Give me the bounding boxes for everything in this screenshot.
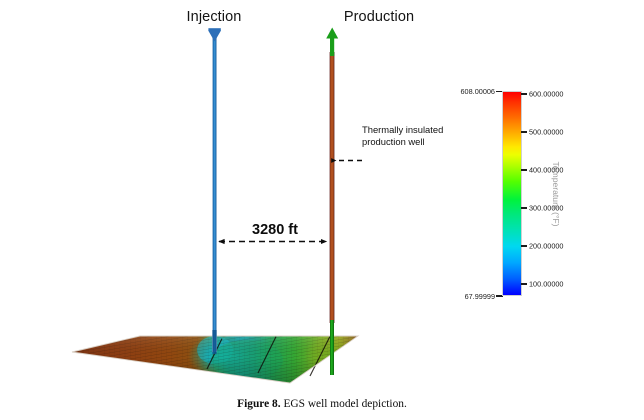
colorbar-gradient-strip (502, 91, 522, 296)
injection-well-openhole (212, 330, 216, 354)
well-spacing-label: 3280 ft (252, 222, 298, 238)
up-arrow-icon (326, 28, 338, 39)
figure-caption: Figure 8. EGS well model depiction. (0, 398, 644, 410)
down-arrow-icon (208, 31, 221, 42)
colorbar-tick (521, 283, 527, 284)
colorbar-title: Temperature (°F) (551, 161, 561, 226)
production-well-casing (329, 52, 335, 323)
production-well (326, 28, 338, 376)
colorbar-tick (521, 131, 527, 132)
injection-well-label: Injection (187, 9, 242, 25)
colorbar-max-label: 608.00006 (452, 87, 495, 96)
injection-well-casing (212, 36, 217, 352)
injection-well (208, 28, 221, 354)
production-well-label: Production (344, 9, 414, 25)
colorbar-tick (521, 169, 527, 170)
colorbar-tick-label: 500.00000 (529, 128, 564, 137)
down-arrow-tail-icon (208, 28, 220, 31)
up-arrow-shaft-icon (330, 36, 334, 56)
figure-caption-text: EGS well model depiction. (281, 398, 407, 410)
temperature-colorbar: 608.00006 67.99999 600.00000 500.00000 4… (452, 84, 582, 304)
production-well-open-section (330, 320, 334, 375)
colorbar-tick-label: 100.00000 (529, 279, 564, 288)
colorbar-tick-label: 200.00000 (529, 241, 564, 250)
figure-caption-number: Figure 8. (237, 398, 280, 410)
colorbar-min-label: 67.99999 (452, 292, 495, 301)
colorbar-tick (521, 207, 527, 208)
colorbar-tick-label: 600.00000 (529, 90, 564, 99)
colorbar-tick (521, 245, 527, 246)
colorbar-tick (521, 93, 527, 94)
